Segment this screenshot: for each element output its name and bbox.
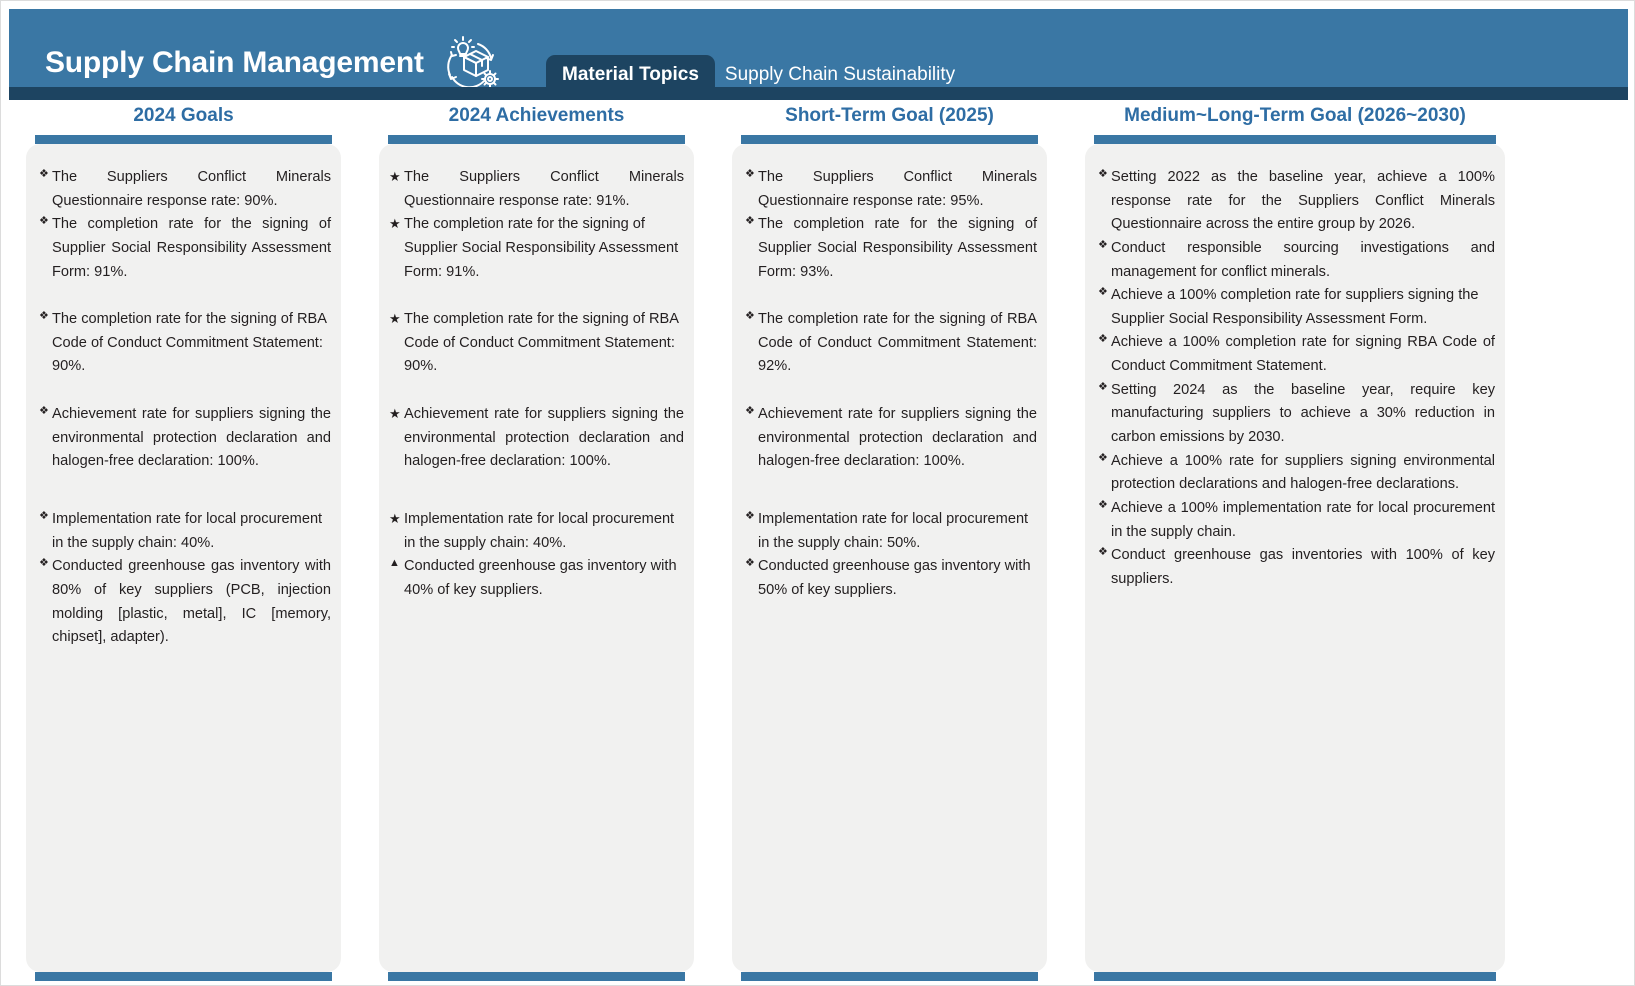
list-item-text: Conducted greenhouse gas inventory with … xyxy=(404,555,684,602)
diamond-bullet-icon: ❖ xyxy=(742,555,758,573)
page-root: Supply Chain Management xyxy=(0,0,1635,986)
list-item: ★The completion rate for the signing of … xyxy=(389,213,684,284)
diamond-bullet-icon: ❖ xyxy=(1095,379,1111,397)
list-item-text: Conducted greenhouse gas inventory with … xyxy=(52,555,331,650)
list-spacer xyxy=(36,284,331,308)
diamond-bullet-icon: ❖ xyxy=(742,213,758,231)
list-spacer xyxy=(389,379,684,403)
list-item: ❖Implementation rate for local procureme… xyxy=(36,508,331,555)
header-underline xyxy=(9,87,1628,100)
list-item: ❖Achieve a 100% implementation rate for … xyxy=(1095,497,1495,544)
list-item: ❖Conducted greenhouse gas inventory with… xyxy=(36,555,331,650)
list-item: ❖Achieve a 100% rate for suppliers signi… xyxy=(1095,450,1495,497)
column-top-bar xyxy=(1094,135,1496,144)
list-item: ❖Setting 2022 as the baseline year, achi… xyxy=(1095,166,1495,237)
diamond-bullet-icon: ❖ xyxy=(742,166,758,184)
list-item-text: Setting 2022 as the baseline year, achie… xyxy=(1111,166,1495,237)
star-bullet-icon: ★ xyxy=(389,508,404,529)
column-top-bar xyxy=(741,135,1038,144)
column-bottom-bar xyxy=(35,972,332,981)
list-item: ❖Achievement rate for suppliers signing … xyxy=(742,403,1037,474)
star-bullet-icon: ★ xyxy=(389,403,404,424)
list-spacer xyxy=(742,284,1037,308)
list-item: ★Achievement rate for suppliers signing … xyxy=(389,403,684,474)
column-bottom-bar xyxy=(1094,972,1496,981)
list-item: ❖Conducted greenhouse gas inventory with… xyxy=(742,555,1037,602)
list-item-text: Achieve a 100% rate for suppliers signin… xyxy=(1111,450,1495,497)
diamond-bullet-icon: ❖ xyxy=(36,403,52,421)
list-item: ▲Conducted greenhouse gas inventory with… xyxy=(389,555,684,602)
diamond-bullet-icon: ❖ xyxy=(742,308,758,326)
item-list-2024-goals: ❖The Suppliers Conflict Minerals Questio… xyxy=(36,166,331,650)
list-item: ❖Implementation rate for local procureme… xyxy=(742,508,1037,555)
column-2024-goals: 2024 Goals ❖The Suppliers Conflict Miner… xyxy=(26,106,341,981)
list-spacer xyxy=(389,284,684,308)
list-item-text: The Suppliers Conflict Minerals Question… xyxy=(404,166,684,213)
page-title: Supply Chain Management xyxy=(45,46,424,80)
column-top-bar xyxy=(388,135,685,144)
list-item-text: Implementation rate for local procuremen… xyxy=(758,508,1037,555)
list-item-text: The completion rate for the signing of R… xyxy=(404,308,684,379)
list-item-text: The completion rate for the signing of R… xyxy=(52,308,331,379)
list-item: ★Implementation rate for local procureme… xyxy=(389,508,684,555)
goal-columns: 2024 Goals ❖The Suppliers Conflict Miner… xyxy=(1,106,1635,981)
diamond-bullet-icon: ❖ xyxy=(1095,166,1111,184)
column-short-term-goal: Short-Term Goal (2025) ❖The Suppliers Co… xyxy=(732,106,1047,981)
list-item-text: Achievement rate for suppliers signing t… xyxy=(404,403,684,474)
card-2024-achievements: ★The Suppliers Conflict Minerals Questio… xyxy=(379,144,694,972)
list-item: ❖The Suppliers Conflict Minerals Questio… xyxy=(36,166,331,213)
column-heading-2024-goals: 2024 Goals xyxy=(26,106,341,135)
list-item: ❖Achieve a 100% completion rate for supp… xyxy=(1095,284,1495,331)
list-item-text: The Suppliers Conflict Minerals Question… xyxy=(758,166,1037,213)
column-bottom-bar xyxy=(741,972,1038,981)
list-item-text: Achieve a 100% completion rate for signi… xyxy=(1111,331,1495,378)
list-item: ❖The Suppliers Conflict Minerals Questio… xyxy=(742,166,1037,213)
list-item-text: Conducted greenhouse gas inventory with … xyxy=(758,555,1037,602)
list-item-text: Implementation rate for local procuremen… xyxy=(52,508,331,555)
item-list-medium-long-term-goal: ❖Setting 2022 as the baseline year, achi… xyxy=(1095,166,1495,592)
list-item-text: The completion rate for the signing of R… xyxy=(758,308,1037,379)
list-item-text: Achieve a 100% implementation rate for l… xyxy=(1111,497,1495,544)
list-spacer xyxy=(389,474,684,508)
diamond-bullet-icon: ❖ xyxy=(36,213,52,231)
star-bullet-icon: ★ xyxy=(389,213,404,234)
column-top-bar xyxy=(35,135,332,144)
column-heading-medium-long-term-goal: Medium~Long-Term Goal (2026~2030) xyxy=(1085,106,1505,135)
column-heading-short-term-goal: Short-Term Goal (2025) xyxy=(732,106,1047,135)
diamond-bullet-icon: ❖ xyxy=(1095,237,1111,255)
list-item-text: Achievement rate for suppliers signing t… xyxy=(52,403,331,474)
column-bottom-bar xyxy=(388,972,685,981)
list-item: ❖The completion rate for the signing of … xyxy=(742,308,1037,379)
list-item-text: Achieve a 100% completion rate for suppl… xyxy=(1111,284,1495,331)
list-spacer xyxy=(36,379,331,403)
list-spacer xyxy=(742,474,1037,508)
column-heading-2024-achievements: 2024 Achievements xyxy=(379,106,694,135)
list-item: ❖Setting 2024 as the baseline year, requ… xyxy=(1095,379,1495,450)
list-spacer xyxy=(36,474,331,508)
column-medium-long-term-goal: Medium~Long-Term Goal (2026~2030) ❖Setti… xyxy=(1085,106,1505,981)
list-item-text: The Suppliers Conflict Minerals Question… xyxy=(52,166,331,213)
list-item-text: The completion rate for the signing of S… xyxy=(758,213,1037,284)
list-item: ★The Suppliers Conflict Minerals Questio… xyxy=(389,166,684,213)
header-title-group: Supply Chain Management xyxy=(45,35,502,91)
supply-chain-gear-icon xyxy=(438,35,502,91)
list-item: ❖Achieve a 100% completion rate for sign… xyxy=(1095,331,1495,378)
list-item-text: Conduct responsible sourcing investigati… xyxy=(1111,237,1495,284)
list-item: ❖Achievement rate for suppliers signing … xyxy=(36,403,331,474)
triangle-bullet-icon: ▲ xyxy=(389,555,404,573)
diamond-bullet-icon: ❖ xyxy=(1095,544,1111,562)
star-bullet-icon: ★ xyxy=(389,166,404,187)
list-item-text: The completion rate for the signing of S… xyxy=(404,213,684,284)
diamond-bullet-icon: ❖ xyxy=(1095,331,1111,349)
list-item: ❖The completion rate for the signing of … xyxy=(36,308,331,379)
list-item: ❖Conduct greenhouse gas inventories with… xyxy=(1095,544,1495,591)
list-item-text: Setting 2024 as the baseline year, requi… xyxy=(1111,379,1495,450)
diamond-bullet-icon: ❖ xyxy=(36,508,52,526)
column-2024-achievements: 2024 Achievements ★The Suppliers Conflic… xyxy=(379,106,694,981)
item-list-short-term-goal: ❖The Suppliers Conflict Minerals Questio… xyxy=(742,166,1037,603)
diamond-bullet-icon: ❖ xyxy=(1095,450,1111,468)
card-short-term-goal: ❖The Suppliers Conflict Minerals Questio… xyxy=(732,144,1047,972)
list-item-text: The completion rate for the signing of S… xyxy=(52,213,331,284)
item-list-2024-achievements: ★The Suppliers Conflict Minerals Questio… xyxy=(389,166,684,603)
diamond-bullet-icon: ❖ xyxy=(742,508,758,526)
diamond-bullet-icon: ❖ xyxy=(742,403,758,421)
diamond-bullet-icon: ❖ xyxy=(1095,497,1111,515)
list-item-text: Implementation rate for local procuremen… xyxy=(404,508,684,555)
diamond-bullet-icon: ❖ xyxy=(36,555,52,573)
list-spacer xyxy=(742,379,1037,403)
list-item-text: Conduct greenhouse gas inventories with … xyxy=(1111,544,1495,591)
star-bullet-icon: ★ xyxy=(389,308,404,329)
diamond-bullet-icon: ❖ xyxy=(1095,284,1111,302)
app-header: Supply Chain Management xyxy=(9,9,1628,87)
list-item: ★The completion rate for the signing of … xyxy=(389,308,684,379)
card-medium-long-term-goal: ❖Setting 2022 as the baseline year, achi… xyxy=(1085,144,1505,972)
list-item-text: Achievement rate for suppliers signing t… xyxy=(758,403,1037,474)
card-2024-goals: ❖The Suppliers Conflict Minerals Questio… xyxy=(26,144,341,972)
diamond-bullet-icon: ❖ xyxy=(36,166,52,184)
list-item: ❖The completion rate for the signing of … xyxy=(36,213,331,284)
list-item: ❖Conduct responsible sourcing investigat… xyxy=(1095,237,1495,284)
list-item: ❖The completion rate for the signing of … xyxy=(742,213,1037,284)
diamond-bullet-icon: ❖ xyxy=(36,308,52,326)
